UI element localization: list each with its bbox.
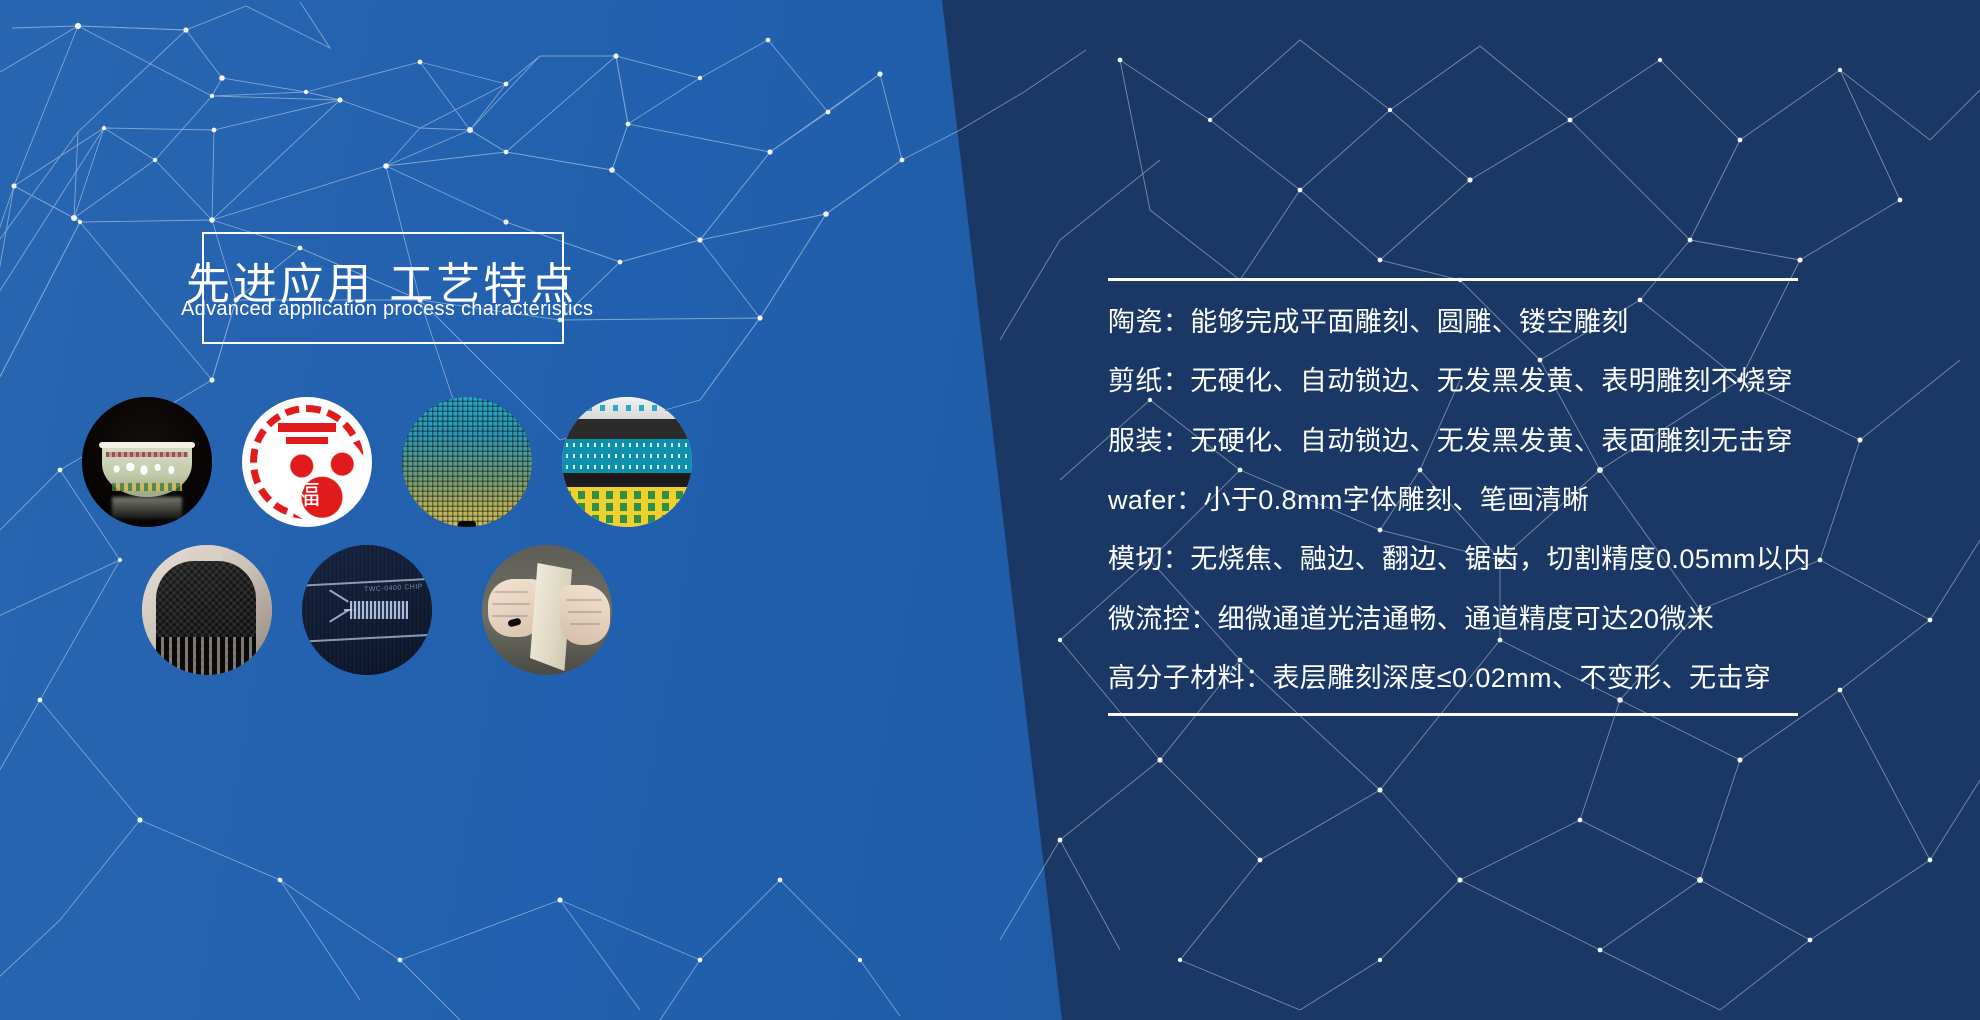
- diecut-band-dark-2: [562, 473, 692, 487]
- wafer-notch: [458, 521, 476, 527]
- spec-item-diecut: 模切：无烧焦、融边、翻边、锯齿，切割精度0.05mm以内: [1108, 540, 1868, 578]
- chip-microchannel-array: [350, 601, 408, 619]
- diecut-white-dots: [574, 405, 680, 411]
- spec-item-polymer: 高分子材料：表层雕刻深度≤0.02mm、不变形、无击穿: [1108, 659, 1868, 697]
- papercut-fu-character: 福: [289, 477, 325, 513]
- garment-fringe: [156, 637, 256, 675]
- spec-item-ceramic: 陶瓷：能够完成平面雕刻、圆雕、镂空雕刻: [1108, 303, 1868, 341]
- diecut-teal-dots: [566, 443, 688, 469]
- specs-list: 陶瓷：能够完成平面雕刻、圆雕、镂空雕刻 剪纸：无硬化、自动锁边、无发黑发黄、表明…: [1108, 303, 1868, 697]
- slide-canvas: 先进应用 工艺特点 Advanced application process c…: [0, 0, 1980, 1020]
- finger-crease: [492, 603, 530, 605]
- ceramic-carved-pattern: [109, 459, 185, 479]
- specs-panel: 陶瓷：能够完成平面雕刻、圆雕、镂空雕刻 剪纸：无硬化、自动锁边、无发黑发黄、表明…: [1108, 278, 1868, 716]
- papercut-bar-mid: [286, 437, 328, 444]
- finger-crease: [570, 623, 600, 625]
- gallery-item-polymer[interactable]: [482, 545, 612, 675]
- finger-crease: [566, 599, 602, 601]
- diecut-yellow-shapes: [564, 491, 690, 525]
- finger-crease: [492, 615, 528, 617]
- ceramic-lower-band: [112, 483, 182, 491]
- wafer-die-grid: [402, 397, 532, 527]
- gallery-item-microfluidic[interactable]: TWC-0400 CHIP: [302, 545, 432, 675]
- spec-item-papercut: 剪纸：无硬化、自动锁边、无发黑发黄、表明雕刻不烧穿: [1108, 362, 1868, 400]
- finger-crease: [494, 591, 528, 593]
- gallery-item-ceramic[interactable]: [82, 397, 212, 527]
- gloved-hand-right: [560, 585, 610, 645]
- finger-crease: [568, 611, 602, 613]
- specs-rule-top: [1108, 278, 1798, 281]
- gallery-item-garment[interactable]: [142, 545, 272, 675]
- page-subtitle: Advanced application process characteris…: [181, 298, 593, 321]
- spec-item-microfluidic: 微流控：细微通道光洁通畅、通道精度可达20微米: [1108, 600, 1868, 638]
- ceramic-upper-band: [106, 452, 188, 457]
- ceramic-reflection: [112, 497, 182, 519]
- ceramic-bowl-rim: [99, 442, 195, 448]
- gallery-item-wafer[interactable]: [402, 397, 532, 527]
- spec-item-wafer: wafer：小于0.8mm字体雕刻、笔画清晰: [1108, 481, 1868, 519]
- specs-rule-bottom: [1108, 713, 1798, 716]
- diecut-band-dark-1: [562, 419, 692, 439]
- papercut-bar-top: [278, 423, 336, 432]
- spec-item-garment: 服装：无硬化、自动锁边、无发黑发黄、表面雕刻无击穿: [1108, 422, 1868, 460]
- gallery-item-papercut[interactable]: 福: [242, 397, 372, 527]
- gallery-item-diecut[interactable]: [562, 397, 692, 527]
